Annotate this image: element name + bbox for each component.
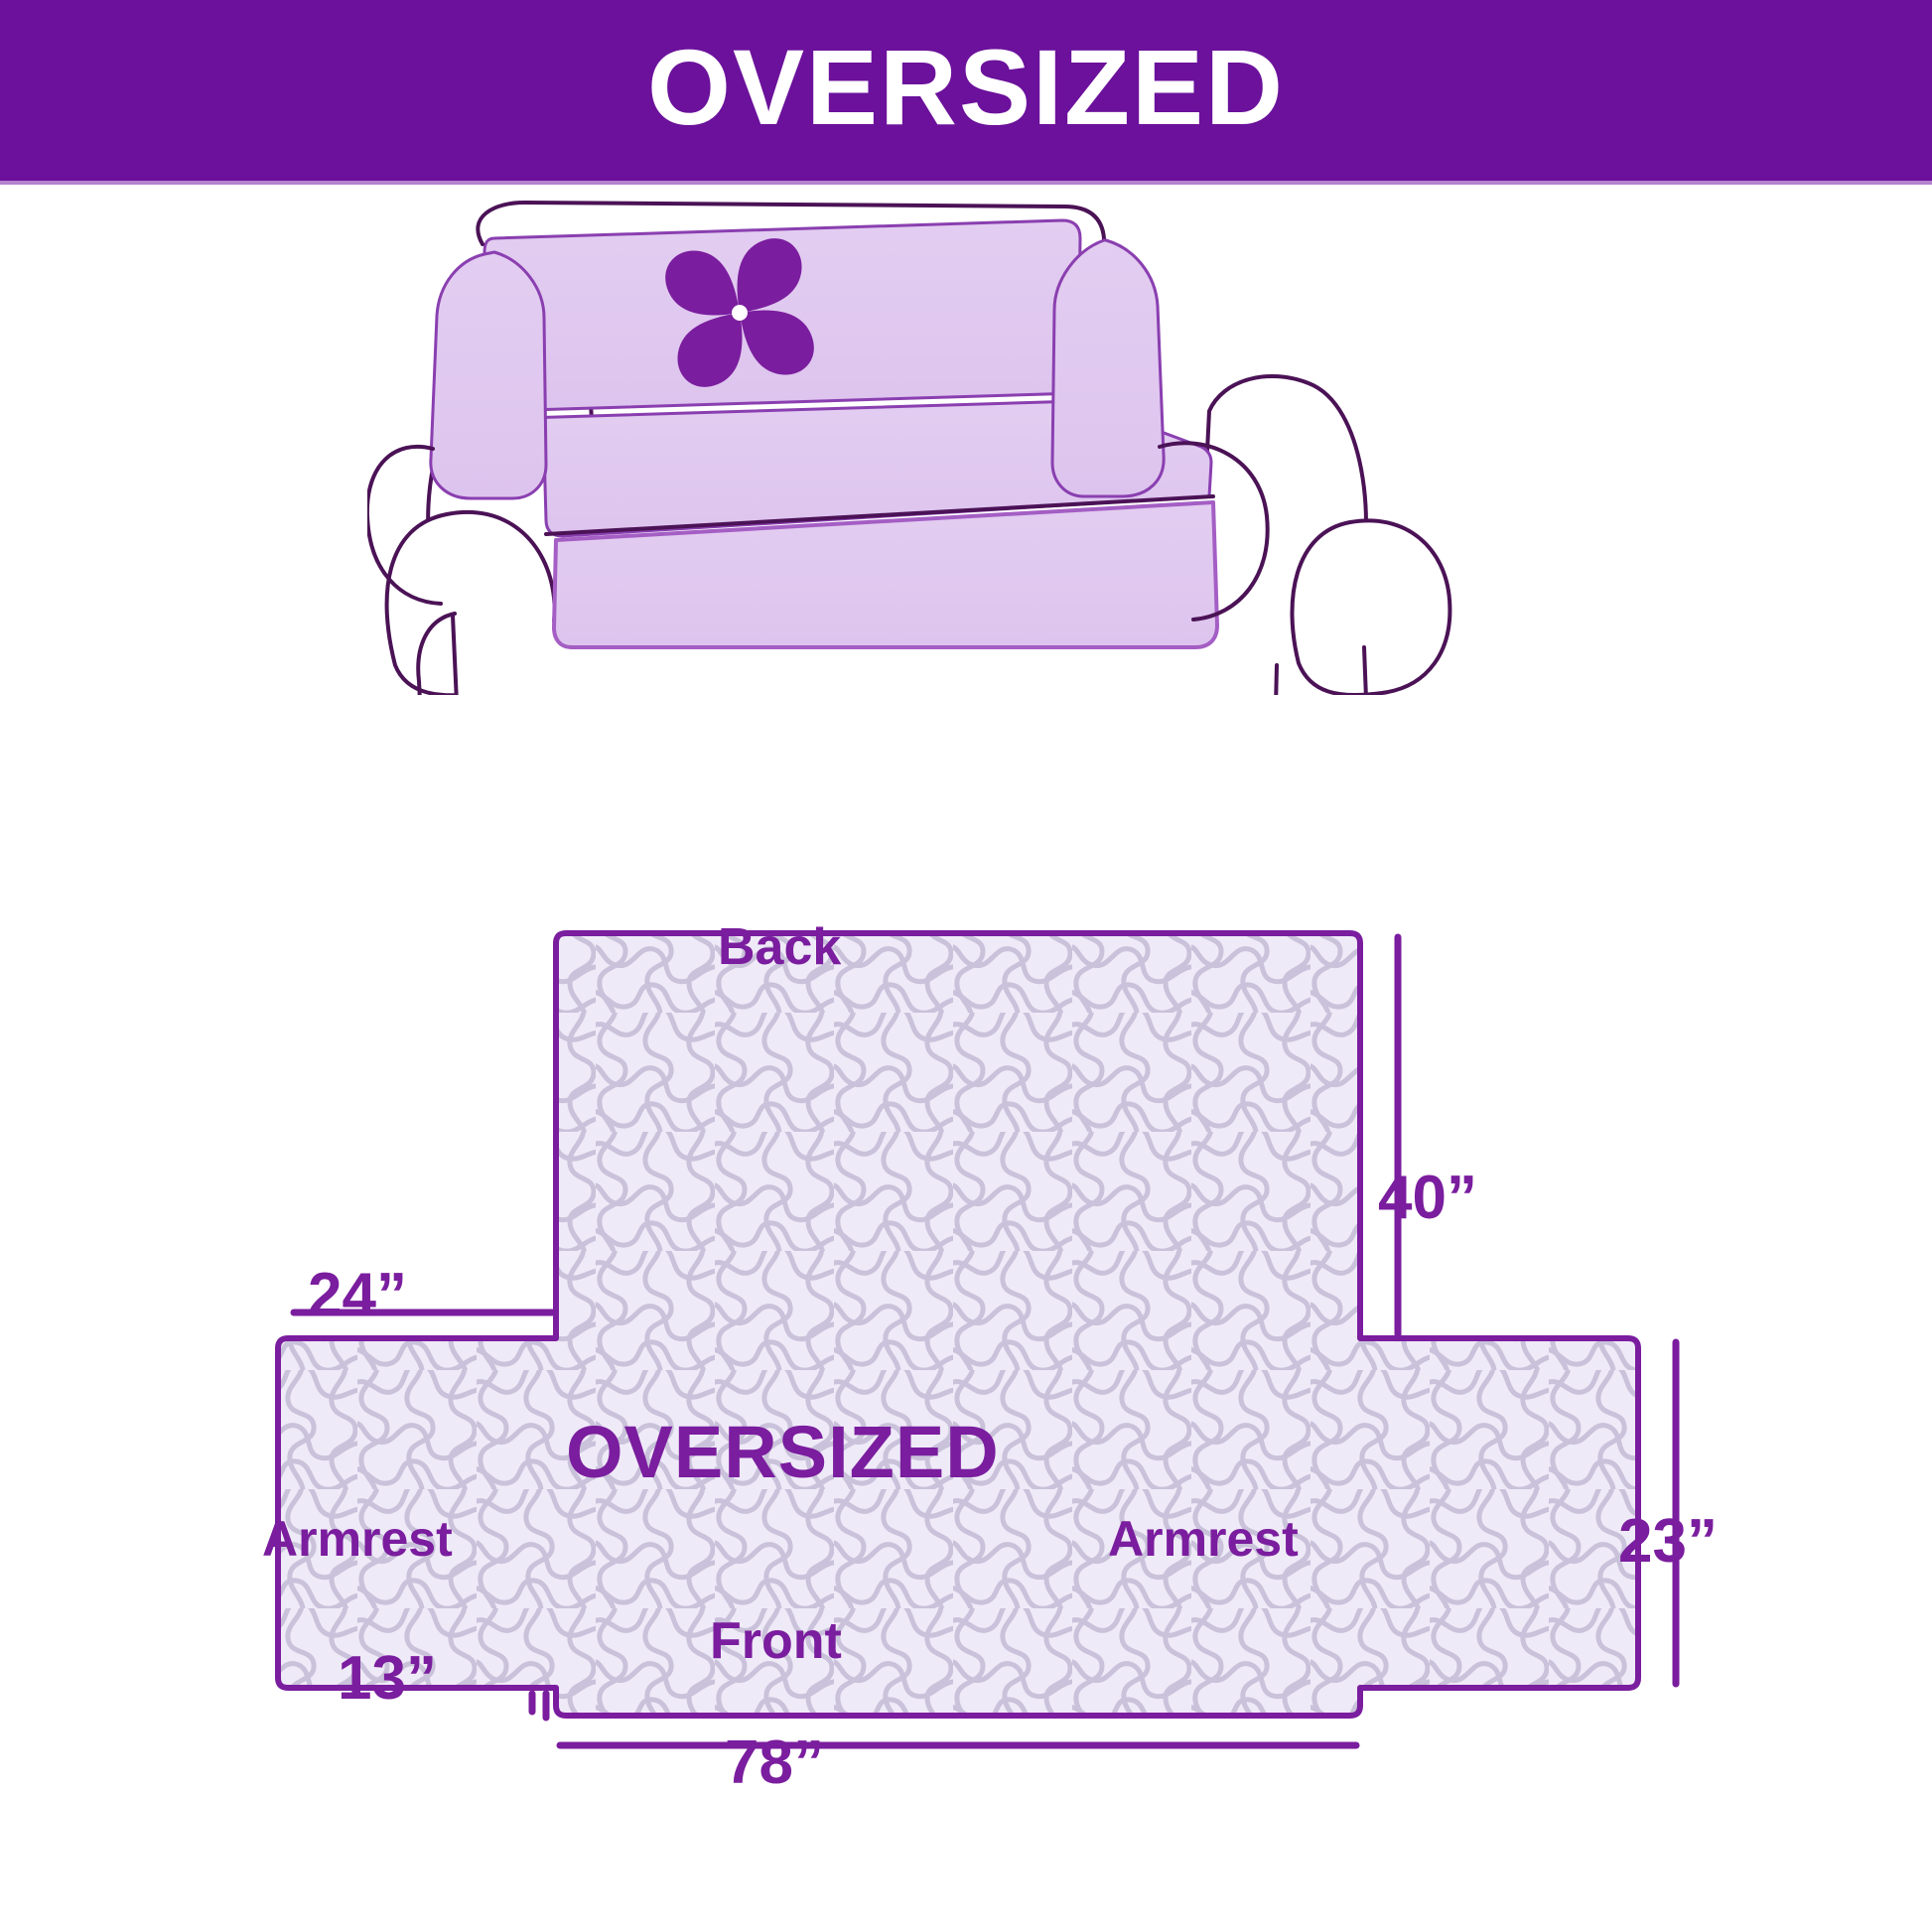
page-title: OVERSIZED — [647, 34, 1285, 147]
slipcover-right-arm — [1052, 240, 1164, 496]
diagram-center-label: OVERSIZED — [566, 1416, 1000, 1489]
dimension-label-front-width: 78” — [725, 1732, 824, 1794]
slipcover-left-arm — [431, 252, 546, 498]
dimension-label-front-inset: 13” — [338, 1648, 437, 1710]
sofa-right-arm-scroll — [1292, 520, 1449, 695]
cover-outline-shape — [278, 933, 1638, 1716]
panel-label-front: Front — [710, 1615, 842, 1667]
panel-label-back: Back — [718, 921, 841, 973]
panel-label-armrest-right: Armrest — [1108, 1514, 1299, 1564]
dimension-diagram-svg — [238, 894, 1708, 1827]
panel-label-armrest-left: Armrest — [262, 1514, 453, 1564]
header-banner: OVERSIZED — [0, 0, 1932, 181]
dimension-label-back-height: 40” — [1378, 1168, 1477, 1229]
dimension-label-back-inset: 24” — [308, 1265, 407, 1326]
dimension-label-armrest-depth: 23” — [1618, 1511, 1718, 1573]
sofa-illustration — [367, 199, 1618, 695]
cover-dimension-diagram: Back Front Armrest Armrest OVERSIZED 40”… — [238, 894, 1708, 1827]
sofa-drawing — [367, 199, 1618, 695]
infographic-page: OVERSIZED — [0, 0, 1932, 1932]
